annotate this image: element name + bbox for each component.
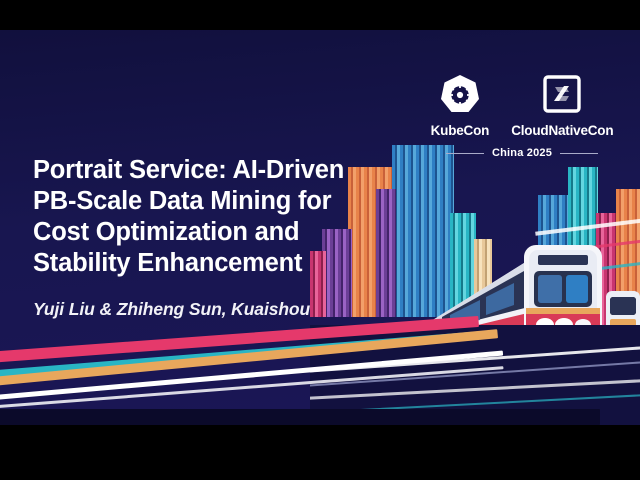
edition-rule-right [560,153,598,154]
kubecon-wordmark: KubeCon [431,123,490,138]
cloudnativecon-wordmark: CloudNativeCon [511,123,613,138]
page-title: Portrait Service: AI-Driven PB-Scale Dat… [33,155,403,279]
edition-label: China 2025 [492,147,552,159]
speaker-byline: Yuji Liu & Zhiheng Sun, Kuaishou [33,299,403,320]
event-logo-lockup: KubeCon CloudNativeCon [422,72,622,159]
kubecon-logo: KubeCon [420,72,501,138]
edition-rule-left [446,153,484,154]
slide-container: Portrait Service: AI-Driven PB-Scale Dat… [0,0,640,480]
logo-row: KubeCon CloudNativeCon [422,72,622,138]
cloudnativecon-logo: CloudNativeCon [500,72,624,138]
cloudnativecon-square-icon [542,72,582,116]
kubernetes-helm-wheel-icon [439,72,481,116]
light-trail-dark [0,409,600,425]
letterbox-top [0,0,640,30]
event-edition: China 2025 [422,147,622,159]
slide-canvas: Portrait Service: AI-Driven PB-Scale Dat… [0,30,640,425]
letterbox-bottom [0,425,640,480]
title-block: Portrait Service: AI-Driven PB-Scale Dat… [33,155,403,320]
